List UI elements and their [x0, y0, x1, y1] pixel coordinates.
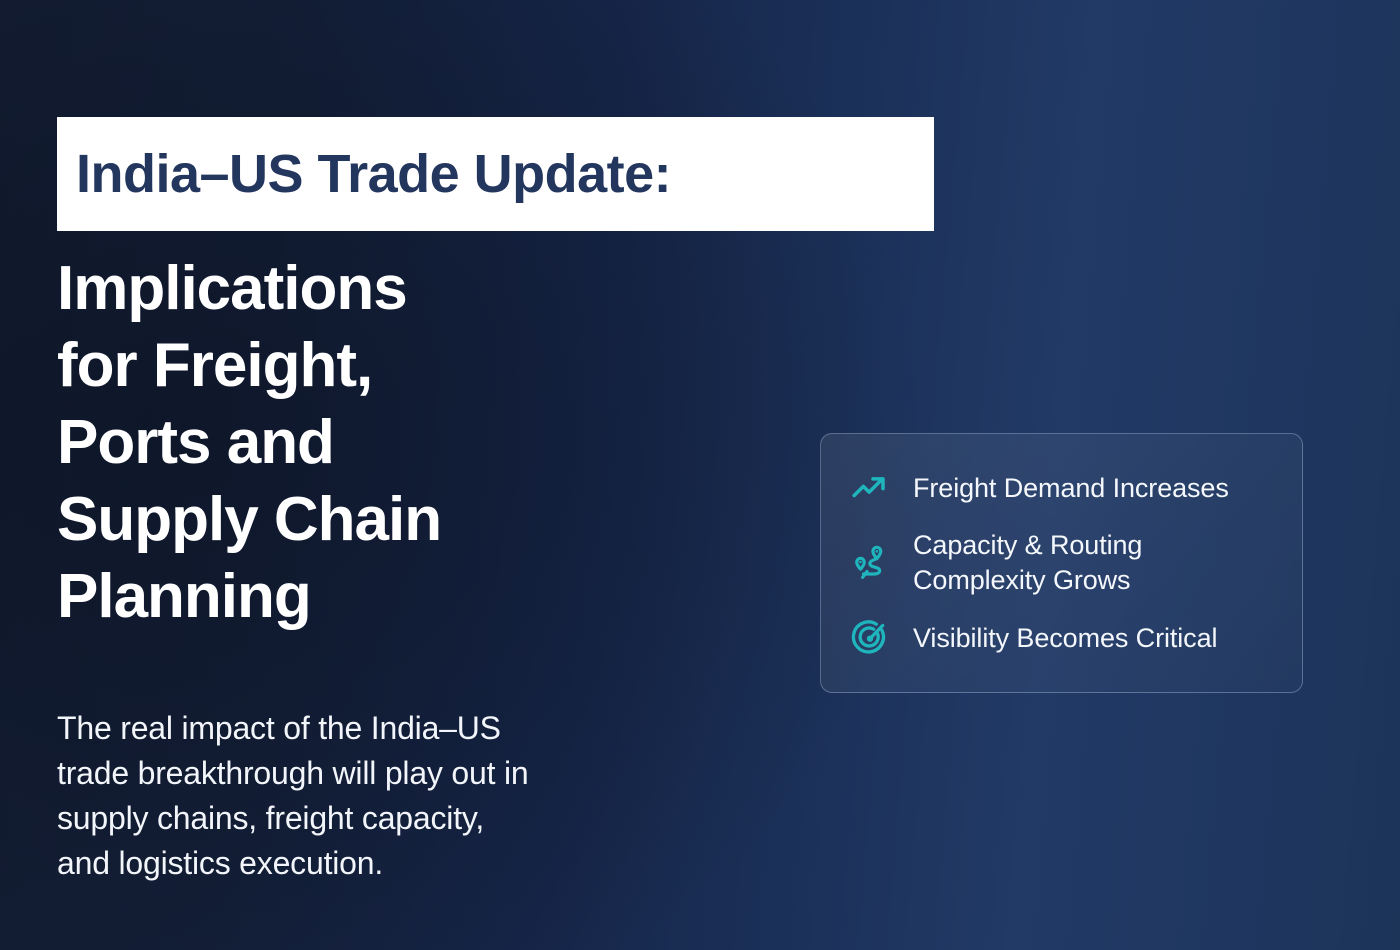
highlight-item-freight-demand: Freight Demand Increases	[849, 464, 1276, 512]
highlight-item-label-line1: Capacity & Routing	[913, 530, 1142, 560]
route-pins-icon	[849, 542, 891, 584]
headline-line: Planning	[57, 558, 677, 635]
headline: Implications for Freight, Ports and Supp…	[57, 250, 677, 635]
target-radar-icon	[849, 617, 891, 659]
headline-line: Implications	[57, 250, 677, 327]
body-copy-line: trade breakthrough will play out in	[57, 751, 697, 796]
highlight-item-label: Capacity & Routing Complexity Grows	[913, 528, 1142, 598]
body-copy-line: The real impact of the India–US	[57, 706, 697, 751]
highlights-card: Freight Demand Increases Capacity & Rout…	[820, 433, 1303, 693]
headline-line: Supply Chain	[57, 481, 677, 558]
body-copy-line: supply chains, freight capacity,	[57, 796, 697, 841]
highlight-item-capacity-routing: Capacity & Routing Complexity Grows	[849, 528, 1276, 598]
trending-up-icon	[849, 467, 891, 509]
highlight-item-visibility: Visibility Becomes Critical	[849, 614, 1276, 662]
headline-line: for Freight,	[57, 327, 677, 404]
page-title: India–US Trade Update:	[76, 147, 671, 201]
highlight-item-label: Visibility Becomes Critical	[913, 621, 1217, 656]
body-copy-line: and logistics execution.	[57, 841, 697, 886]
highlight-item-label: Freight Demand Increases	[913, 471, 1229, 506]
highlight-item-label-line2: Complexity Grows	[913, 565, 1130, 595]
headline-line: Ports and	[57, 404, 677, 481]
title-banner: India–US Trade Update:	[57, 117, 934, 231]
slide-content: India–US Trade Update: Implications for …	[0, 0, 1400, 950]
body-copy: The real impact of the India–US trade br…	[57, 706, 697, 886]
promo-slide: India–US Trade Update: Implications for …	[0, 0, 1400, 950]
